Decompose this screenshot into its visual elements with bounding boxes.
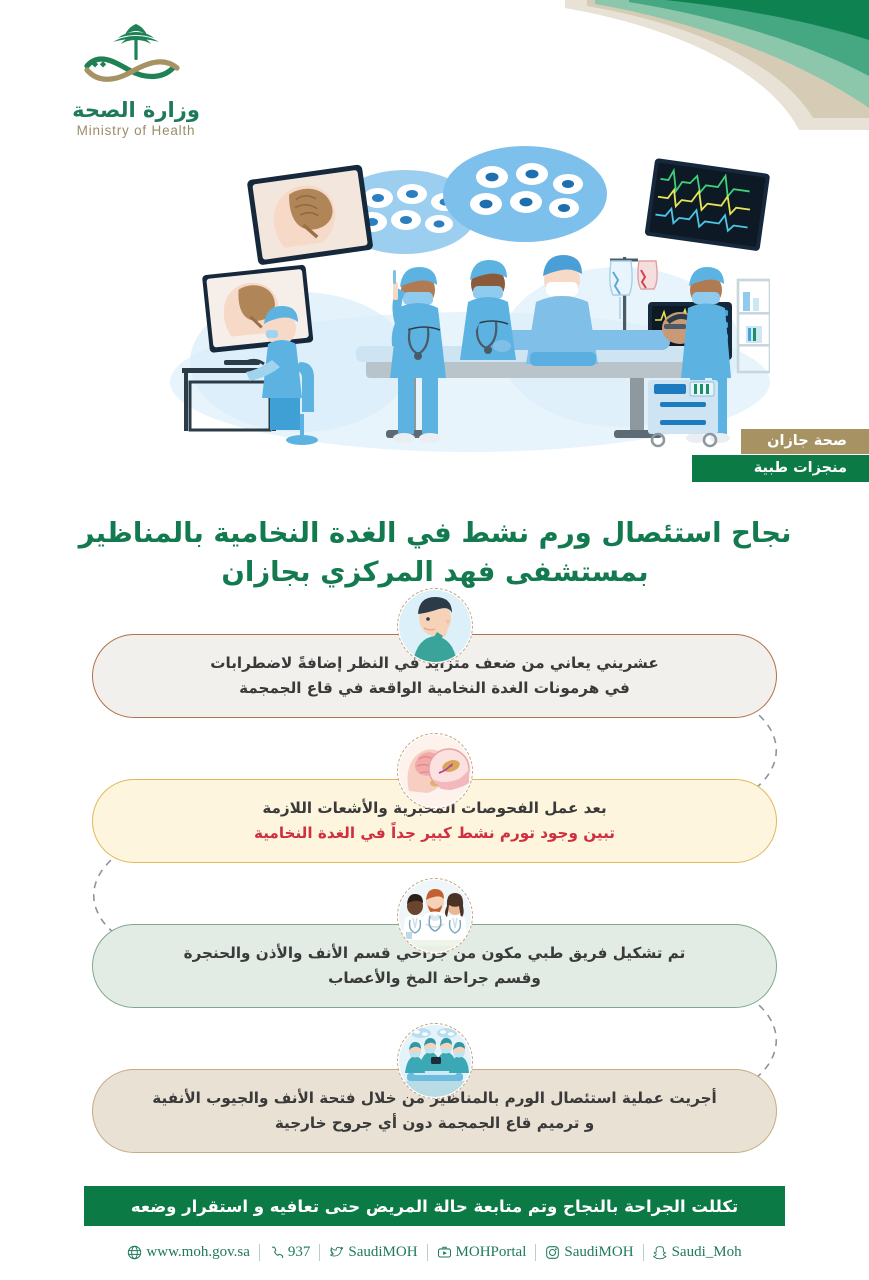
operating-room-illustration bbox=[150, 132, 770, 452]
phone-icon bbox=[269, 1245, 284, 1260]
footer-snapchat-label: Saudi_Moh bbox=[672, 1244, 742, 1261]
header-decorative-curves bbox=[469, 0, 869, 130]
footer-website-label: www.moh.gov.sa bbox=[146, 1244, 249, 1261]
brain-pituitary-scan-icon bbox=[397, 733, 473, 809]
title-line-2: بمستشفى فهد المركزي بجازان bbox=[42, 553, 828, 592]
medical-team-doctors-icon bbox=[397, 878, 473, 954]
youtube-icon bbox=[437, 1245, 452, 1260]
footer-website[interactable]: www.moh.gov.sa bbox=[118, 1244, 258, 1261]
footer-phone[interactable]: 937 bbox=[260, 1244, 320, 1261]
step-3-line-2: وقسم جراحة المخ والأعصاب bbox=[328, 966, 541, 991]
moh-palm-swords-logo-icon bbox=[69, 18, 204, 96]
footer-contacts: www.moh.gov.sa 937 SaudiMOH MOHPortal Sa… bbox=[0, 1244, 869, 1261]
conclusion-banner: تكللت الجراحة بالنجاح وتم متابعة حالة ال… bbox=[84, 1186, 785, 1226]
footer-snapchat[interactable]: Saudi_Moh bbox=[644, 1244, 751, 1261]
logo-arabic-text: وزارة الصحة bbox=[36, 98, 236, 122]
footer-instagram[interactable]: SaudiMOH bbox=[536, 1244, 642, 1261]
footer-instagram-label: SaudiMOH bbox=[564, 1244, 633, 1261]
steps-timeline: عشريني يعاني من ضعف متزايد في النظر إضاف… bbox=[0, 588, 869, 1168]
surgery-operation-team-icon bbox=[397, 1023, 473, 1099]
footer-twitter-label: SaudiMOH bbox=[348, 1244, 417, 1261]
footer-youtube-label: MOHPortal bbox=[456, 1244, 527, 1261]
title-line-1: نجاح استئصال ورم نشط في الغدة النخامية ب… bbox=[42, 514, 828, 553]
patient-eye-strain-icon bbox=[397, 588, 473, 664]
region-badge: صحة جازان bbox=[741, 429, 869, 454]
footer-phone-label: 937 bbox=[288, 1244, 311, 1261]
moh-logo: وزارة الصحة Ministry of Health bbox=[36, 18, 236, 138]
instagram-icon bbox=[545, 1245, 560, 1260]
footer-twitter[interactable]: SaudiMOH bbox=[320, 1244, 426, 1261]
category-badge: منجزات طبية bbox=[692, 455, 869, 482]
step-4-line-2: و ترميم قاع الجمجمة دون أي جروح خارجية bbox=[275, 1111, 594, 1136]
footer-youtube[interactable]: MOHPortal bbox=[428, 1244, 536, 1261]
globe-icon bbox=[127, 1245, 142, 1260]
snapchat-icon bbox=[653, 1245, 668, 1260]
twitter-icon bbox=[329, 1245, 344, 1260]
step-1-line-2: في هرمونات الغدة النخامية الواقعة في قاع… bbox=[239, 676, 630, 701]
step-2-line-2: تبين وجود تورم نشط كبير جداً في الغدة ال… bbox=[254, 821, 615, 846]
page-title: نجاح استئصال ورم نشط في الغدة النخامية ب… bbox=[42, 514, 828, 592]
